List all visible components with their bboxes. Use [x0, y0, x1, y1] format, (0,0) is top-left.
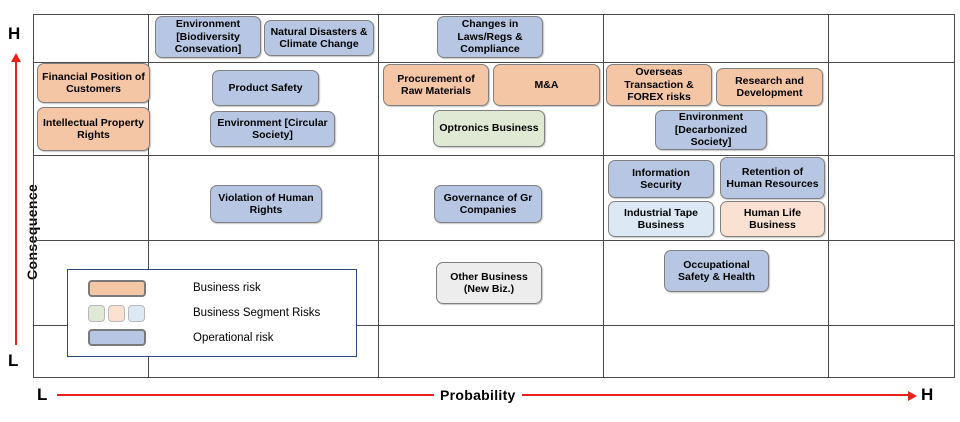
legend-swatch-1-0 [88, 305, 105, 322]
grid-row-line-3 [33, 240, 955, 241]
risk-box-environment-biodiversity-consevation[interactable]: Environment [Biodiversity Consevation] [155, 16, 261, 58]
grid-column-line-2 [378, 14, 379, 378]
grid-row-line-2 [33, 155, 955, 156]
grid-column-line-4 [828, 14, 829, 378]
risk-box-other-business-new-biz[interactable]: Other Business (New Biz.) [436, 262, 542, 304]
legend-row-1: Business Segment Risks [88, 301, 356, 326]
consequence-low-label: L [8, 352, 18, 369]
probability-high-label: H [921, 386, 933, 403]
risk-box-product-safety[interactable]: Product Safety [212, 70, 319, 106]
legend-swatch-1-1 [108, 305, 125, 322]
risk-box-governance-of-gr-companies[interactable]: Governance of Gr Companies [434, 185, 542, 223]
risk-box-environment-circular-society[interactable]: Environment [Circular Society] [210, 111, 335, 147]
probability-arrow-head [908, 391, 917, 401]
legend-swatch-group-0 [88, 280, 183, 297]
consequence-arrow-line [15, 62, 17, 345]
risk-box-industrial-tape-business[interactable]: Industrial Tape Business [608, 201, 714, 237]
risk-box-occupational-safety-health[interactable]: Occupational Safety & Health [664, 250, 769, 292]
legend-swatch-group-1 [88, 305, 183, 322]
consequence-arrow-head [11, 53, 21, 62]
risk-box-human-life-business[interactable]: Human Life Business [720, 201, 825, 237]
risk-box-environment-decarbonized-society[interactable]: Environment [Decarbonized Society] [655, 110, 767, 150]
legend-label-0: Business risk [193, 282, 261, 294]
consequence-high-label: H [8, 25, 20, 42]
probability-low-label: L [37, 386, 47, 403]
risk-box-optronics-business[interactable]: Optronics Business [433, 110, 545, 147]
grid-column-line-3 [603, 14, 604, 378]
risk-box-financial-position-of-customers[interactable]: Financial Position of Customers [37, 63, 150, 103]
legend-label-2: Operational risk [193, 332, 274, 344]
risk-box-procurement-of-raw-materials[interactable]: Procurement of Raw Materials [383, 64, 489, 106]
legend-swatch-1-2 [128, 305, 145, 322]
risk-box-information-security[interactable]: Information Security [608, 160, 714, 198]
legend-swatch-0-0 [88, 280, 146, 297]
risk-box-retention-of-human-resources[interactable]: Retention of Human Resources [720, 157, 825, 199]
risk-box-natural-disasters-climate-change[interactable]: Natural Disasters & Climate Change [264, 20, 374, 56]
legend-swatch-group-2 [88, 329, 183, 346]
legend-swatch-2-0 [88, 329, 146, 346]
risk-box-overseas-transaction-forex-risks[interactable]: Overseas Transaction & FOREX risks [606, 64, 712, 106]
legend-row-2: Operational risk [88, 325, 356, 350]
risk-box-changes-in-laws-regs-compliance[interactable]: Changes in Laws/Regs & Compliance [437, 16, 543, 58]
probability-axis-label: Probability [434, 387, 522, 403]
grid-row-line-1 [33, 62, 955, 63]
risk-map-diagram: H L Consequence Financial Position of Cu… [0, 0, 960, 422]
legend: Business riskBusiness Segment RisksOpera… [67, 269, 357, 357]
legend-label-1: Business Segment Risks [193, 307, 320, 319]
risk-box-m-and-a[interactable]: M&A [493, 64, 600, 106]
risk-box-research-and-development[interactable]: Research and Development [716, 68, 823, 106]
risk-box-intellectual-property-rights[interactable]: Intellectual Property Rights [37, 107, 150, 151]
legend-row-0: Business risk [88, 276, 356, 301]
risk-box-violation-of-human-rights[interactable]: Violation of Human Rights [210, 185, 322, 223]
